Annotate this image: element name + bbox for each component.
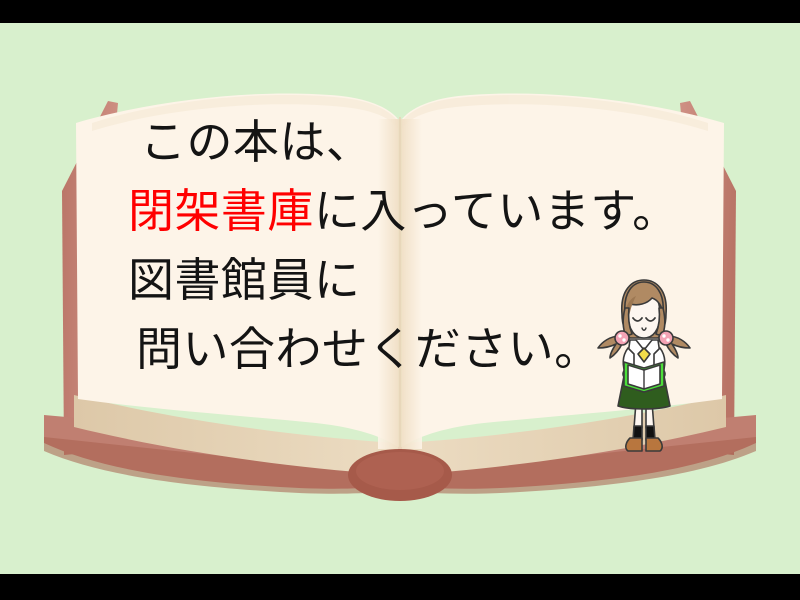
notice-line-1: この本は、 — [118, 110, 698, 179]
letterbox-bottom — [0, 574, 800, 600]
slide-canvas: この本は、 閉架書庫に入っています。 図書館員に 問い合わせください。 — [0, 0, 800, 600]
book-spine — [348, 449, 452, 501]
notice-line-2-tail: に入っています。 — [314, 185, 679, 237]
notice-line-2: 閉架書庫に入っています。 — [118, 179, 698, 248]
letterbox-top — [0, 0, 800, 23]
highlight-term: 閉架書庫 — [128, 185, 314, 237]
girl-reading-illustration — [592, 274, 696, 460]
